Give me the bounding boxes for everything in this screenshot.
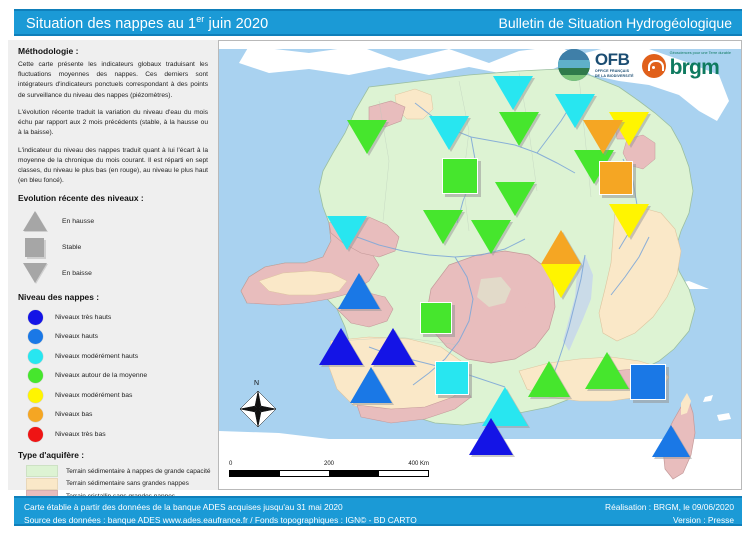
compass-svg xyxy=(237,381,279,427)
scale-segment xyxy=(230,471,280,476)
aquifer-color-swatch xyxy=(26,478,58,490)
evolution-legend-item: En baisse xyxy=(20,260,214,286)
evolution-legend-list: En hausseStableEn baisse xyxy=(14,208,214,286)
shape-glyph xyxy=(23,263,47,283)
map-marker-triangle-down[interactable] xyxy=(541,264,581,298)
level-color-dot xyxy=(28,407,43,422)
footer-row-1: Carte établie à partir des données de la… xyxy=(24,500,734,513)
level-legend-item: Niveaux modérément bas xyxy=(20,385,214,405)
levels-legend-list: Niveaux très hautsNiveaux hautsNiveaux m… xyxy=(14,307,214,444)
methodology-paragraph-2: L'évolution récente traduit la variation… xyxy=(18,108,208,139)
footer-row-2: Source des données : banque ADES www.ade… xyxy=(24,513,734,526)
scale-bar-labels: 0200400 Km xyxy=(229,461,429,470)
map-marker-triangle-up[interactable] xyxy=(585,352,629,389)
level-legend-label: Niveaux hauts xyxy=(55,333,98,340)
brgm-name: brgm xyxy=(670,56,719,79)
map-marker-triangle-down[interactable] xyxy=(429,116,469,150)
map-panel[interactable]: OFB OFFICE FRANÇAIS DE LA BIODIVERSITÉ G… xyxy=(218,40,742,490)
level-color-dot xyxy=(28,427,43,442)
evolution-legend-item: Stable xyxy=(20,234,214,260)
footer-version: Version : Presse xyxy=(673,515,734,525)
brgm-logo: Géosciences pour une Terre durable brgm xyxy=(642,52,731,78)
scale-tick-label: 0 xyxy=(229,461,232,467)
methodology-title: Méthodologie : xyxy=(18,46,214,56)
aquifer-legend-label: Terrain sédimentaire à nappes de grande … xyxy=(66,468,211,475)
level-legend-item: Niveaux modérément hauts xyxy=(20,346,214,366)
level-legend-label: Niveaux modérément hauts xyxy=(55,353,138,360)
level-legend-label: Niveaux bas xyxy=(55,411,92,418)
ofb-wordmark: OFB OFFICE FRANÇAIS DE LA BIODIVERSITÉ xyxy=(595,51,634,78)
square-icon xyxy=(20,235,54,259)
scale-segment xyxy=(379,471,429,476)
level-color-dot xyxy=(28,310,43,325)
ofb-abbr: OFB xyxy=(595,50,630,69)
map-marker-square[interactable] xyxy=(630,364,666,400)
shape-glyph xyxy=(23,211,47,231)
levels-legend-title: Niveau des nappes : xyxy=(18,292,214,302)
map-marker-triangle-up[interactable] xyxy=(319,328,363,365)
footer-source-note: Carte établie à partir des données de la… xyxy=(24,502,343,512)
level-legend-item: Niveaux très bas xyxy=(20,424,214,444)
title-bar: Situation des nappes au 1er juin 2020 Bu… xyxy=(14,9,742,36)
map-marker-triangle-up[interactable] xyxy=(541,230,581,264)
aquifer-legend-title: Type d'aquifère : xyxy=(18,450,214,460)
level-legend-label: Niveaux autour de la moyenne xyxy=(55,372,147,379)
scale-segment xyxy=(280,471,330,476)
level-color-dot xyxy=(28,388,43,403)
aquifer-color-swatch xyxy=(26,465,58,477)
map-marker-triangle-down[interactable] xyxy=(609,204,649,238)
page-title: Situation des nappes au 1er juin 2020 xyxy=(26,14,268,32)
map-marker-triangle-up[interactable] xyxy=(528,361,570,397)
scale-segment xyxy=(329,471,379,476)
methodology-paragraph-1: Cette carte présente les indicateurs glo… xyxy=(18,60,208,101)
evolution-legend-label: En baisse xyxy=(62,270,92,277)
methodology-paragraph-3: L'indicateur du niveau des nappes tradui… xyxy=(18,146,208,187)
map-marker-triangle-up[interactable] xyxy=(371,328,415,365)
map-marker-triangle-down[interactable] xyxy=(423,210,463,244)
level-color-dot xyxy=(28,329,43,344)
ofb-logo: OFB OFFICE FRANÇAIS DE LA BIODIVERSITÉ xyxy=(558,49,634,81)
level-legend-item: Niveaux hauts xyxy=(20,327,214,347)
map-marker-square[interactable] xyxy=(442,158,478,194)
ofb-emblem-icon xyxy=(558,49,590,81)
brgm-wordmark: Géosciences pour une Terre durable brgm xyxy=(670,52,731,78)
compass-rose-icon: N xyxy=(237,381,279,433)
map-marker-triangle-up[interactable] xyxy=(652,425,690,457)
compass-north-label: N xyxy=(254,380,259,387)
ofb-line-2: DE LA BIODIVERSITÉ xyxy=(595,75,634,79)
map-marker-triangle-down[interactable] xyxy=(327,216,367,250)
aquifer-legend-item: Terrain sédimentaire sans grandes nappes xyxy=(20,477,214,490)
footer-data-source: Source des données : banque ADES www.ade… xyxy=(24,515,417,525)
scale-tick-label: 400 Km xyxy=(408,461,429,467)
map-marker-triangle-up[interactable] xyxy=(469,418,513,455)
map-marker-triangle-down[interactable] xyxy=(495,182,535,216)
level-legend-label: Niveaux très bas xyxy=(55,431,106,438)
aquifer-legend-label: Terrain sédimentaire sans grandes nappes xyxy=(66,480,189,487)
title-rest: juin 2020 xyxy=(204,15,268,31)
triangle-down-icon xyxy=(20,261,54,285)
logo-group: OFB OFFICE FRANÇAIS DE LA BIODIVERSITÉ G… xyxy=(558,49,731,81)
bulletin-subtitle: Bulletin de Situation Hydrogéologique xyxy=(499,15,733,31)
map-marker-triangle-up[interactable] xyxy=(350,367,392,403)
level-color-dot xyxy=(28,368,43,383)
map-marker-triangle-down[interactable] xyxy=(499,112,539,146)
map-marker-layer[interactable] xyxy=(219,41,741,489)
scale-tick-label: 200 xyxy=(324,461,334,467)
map-marker-triangle-down[interactable] xyxy=(471,220,511,254)
poster-root: Situation des nappes au 1er juin 2020 Bu… xyxy=(0,0,754,533)
brgm-emblem-icon xyxy=(642,54,666,78)
shape-glyph xyxy=(25,238,44,257)
map-marker-triangle-down[interactable] xyxy=(347,120,387,154)
level-legend-label: Niveaux modérément bas xyxy=(55,392,132,399)
map-marker-triangle-up[interactable] xyxy=(338,273,380,309)
evolution-legend-label: Stable xyxy=(62,244,81,251)
map-marker-square[interactable] xyxy=(435,361,469,395)
title-main: Situation des nappes au 1 xyxy=(26,15,196,31)
footer-bar: Carte établie à partir des données de la… xyxy=(14,496,742,526)
level-legend-item: Niveaux très hauts xyxy=(20,307,214,327)
level-legend-label: Niveaux très hauts xyxy=(55,314,111,321)
footer-realisation: Réalisation : BRGM, le 09/06/2020 xyxy=(605,502,734,512)
scale-bar: 0200400 Km xyxy=(229,461,429,477)
map-marker-triangle-down[interactable] xyxy=(583,120,623,154)
map-marker-square[interactable] xyxy=(420,302,452,334)
evolution-legend-title: Evolution récente des niveaux : xyxy=(18,193,214,203)
evolution-legend-label: En hausse xyxy=(62,218,94,225)
aquifer-legend-item: Terrain sédimentaire à nappes de grande … xyxy=(20,465,214,478)
level-legend-item: Niveaux bas xyxy=(20,405,214,425)
triangle-up-icon xyxy=(20,209,54,233)
map-marker-triangle-down[interactable] xyxy=(493,76,533,110)
legend-panel: Méthodologie : Cette carte présente les … xyxy=(8,40,218,490)
scale-bar-segments xyxy=(229,470,429,477)
evolution-legend-item: En hausse xyxy=(20,208,214,234)
level-color-dot xyxy=(28,349,43,364)
level-legend-item: Niveaux autour de la moyenne xyxy=(20,366,214,386)
map-marker-square[interactable] xyxy=(599,161,633,195)
